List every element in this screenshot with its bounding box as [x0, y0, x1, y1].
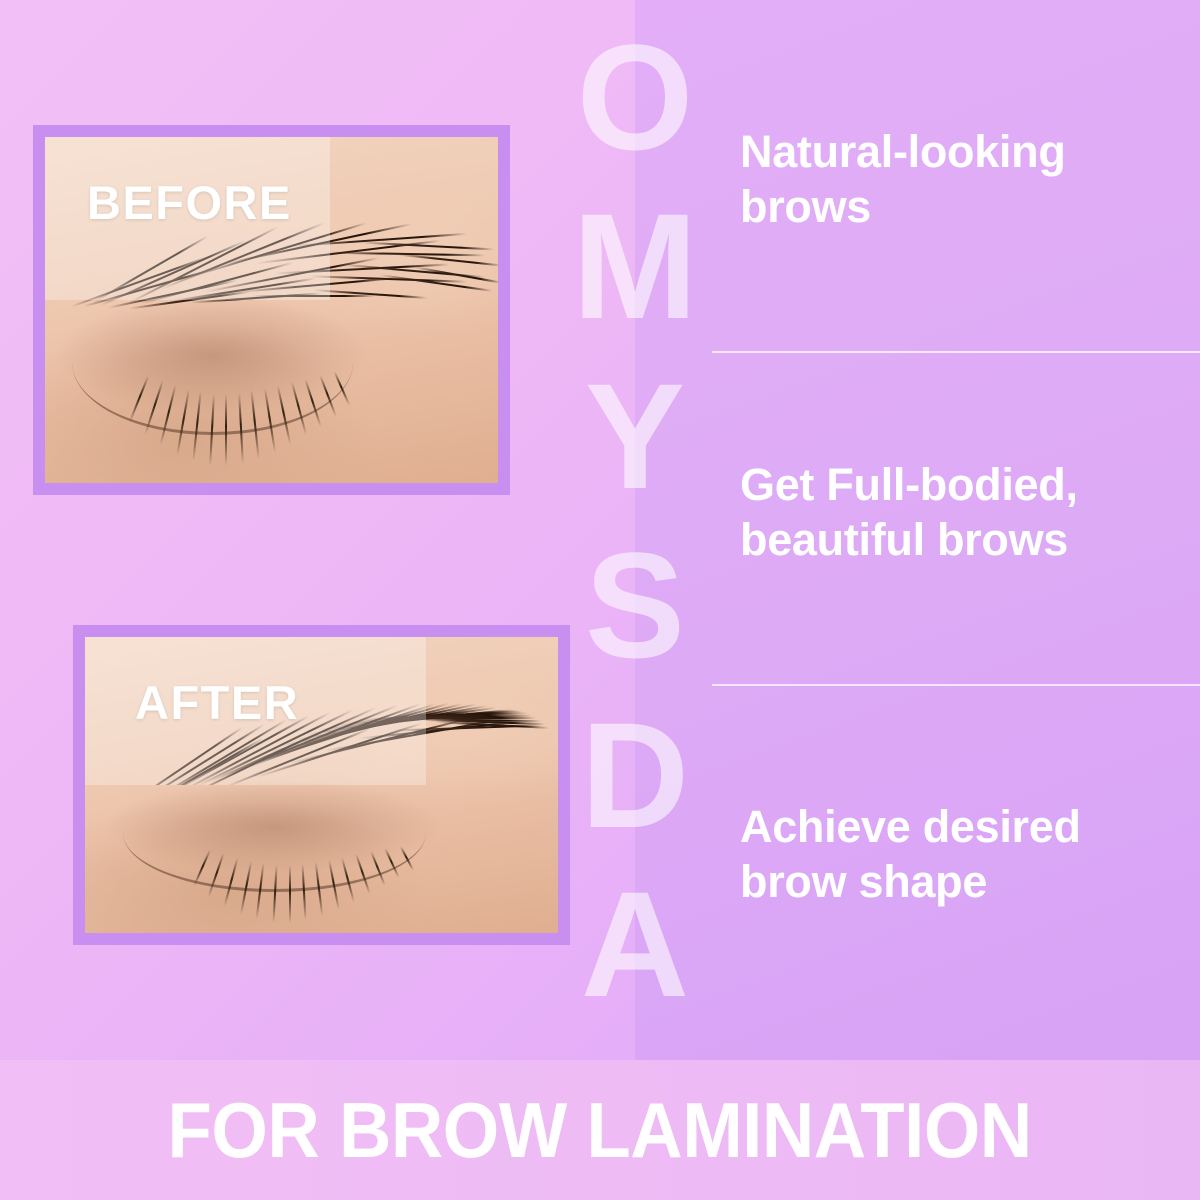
eyelashes — [189, 832, 482, 933]
before-photo-card: BEFORE — [33, 125, 510, 495]
after-label: AFTER — [135, 679, 299, 726]
footer-band: FOR BROW LAMINATION — [0, 1060, 1200, 1200]
eyelashes — [127, 352, 417, 477]
infographic-poster: BEFORE — [0, 0, 1200, 1200]
feature-item-2: Get Full-bodied, beautiful brows — [740, 458, 1180, 568]
feature-divider-1 — [712, 351, 1200, 353]
after-photo-card: AFTER — [73, 625, 570, 945]
before-label: BEFORE — [87, 179, 292, 226]
before-photo: BEFORE — [45, 137, 498, 483]
feature-item-1: Natural-looking brows — [740, 125, 1180, 235]
after-photo: AFTER — [85, 637, 558, 933]
feature-divider-2 — [712, 684, 1200, 686]
footer-headline: FOR BROW LAMINATION — [168, 1091, 1032, 1169]
feature-item-3: Achieve desired brow shape — [740, 800, 1180, 910]
